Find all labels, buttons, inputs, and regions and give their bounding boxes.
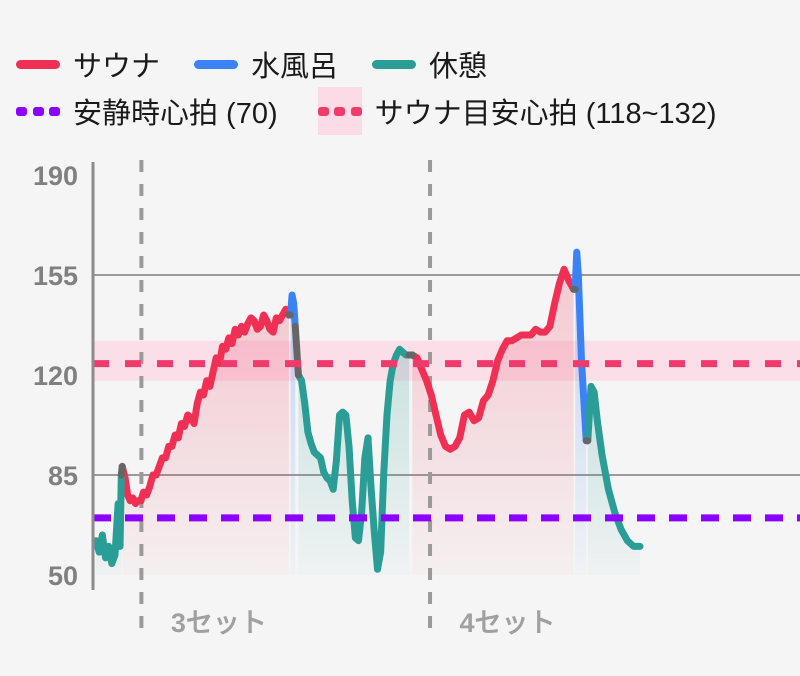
set-label-3セット: 3セット	[171, 608, 267, 638]
transition-connector-2	[295, 326, 298, 375]
set-label-4セット: 4セット	[460, 608, 556, 638]
rest-color-swatch-icon	[372, 60, 416, 69]
legend-row-reference-lines: 安静時心拍 (70) サウナ目安心拍 (118~132)	[0, 88, 800, 134]
legend-label-sauna-target-hr: サウナ目安心拍 (118~132)	[375, 90, 717, 132]
legend-row-activities: サウナ 水風呂 休憩	[0, 40, 800, 88]
sauna-color-swatch-icon	[16, 60, 60, 69]
legend-item-cold-bath[interactable]: 水風呂	[194, 43, 338, 85]
heart-rate-chart-screen: サウナ 水風呂 休憩 安静時心拍 (70)	[0, 0, 800, 676]
resting-hr-dotted-swatch-icon	[16, 100, 60, 122]
legend-label-cold-bath: 水風呂	[251, 43, 338, 85]
legend-item-resting-hr[interactable]: 安静時心拍 (70)	[16, 90, 278, 132]
y-tick-label-155: 155	[33, 261, 78, 291]
legend-label-resting-hr: 安静時心拍 (70)	[73, 90, 278, 132]
y-tick-label-190: 190	[33, 161, 78, 191]
legend-item-sauna[interactable]: サウナ	[16, 43, 160, 85]
legend-label-sauna: サウナ	[73, 43, 160, 85]
transition-connector-0	[121, 466, 122, 475]
y-tick-label-85: 85	[48, 461, 78, 491]
chart-legend: サウナ 水風呂 休憩 安静時心拍 (70)	[0, 40, 800, 134]
cold-bath-color-swatch-icon	[194, 60, 238, 69]
set-labels: 3セット4セット	[171, 608, 556, 638]
sauna-target-band-swatch-icon	[318, 87, 362, 135]
legend-item-sauna-target-hr[interactable]: サウナ目安心拍 (118~132)	[318, 87, 717, 135]
y-axis-tick-labels: 1901551208550	[33, 161, 78, 591]
y-tick-label-120: 120	[33, 361, 78, 391]
legend-label-rest: 休憩	[429, 43, 487, 85]
chart-area[interactable]: 1901551208550 3セット4セット	[0, 150, 800, 660]
heart-rate-line-chart[interactable]: 1901551208550 3セット4セット	[0, 150, 800, 660]
legend-item-rest[interactable]: 休憩	[372, 43, 487, 85]
y-tick-label-50: 50	[48, 561, 78, 591]
